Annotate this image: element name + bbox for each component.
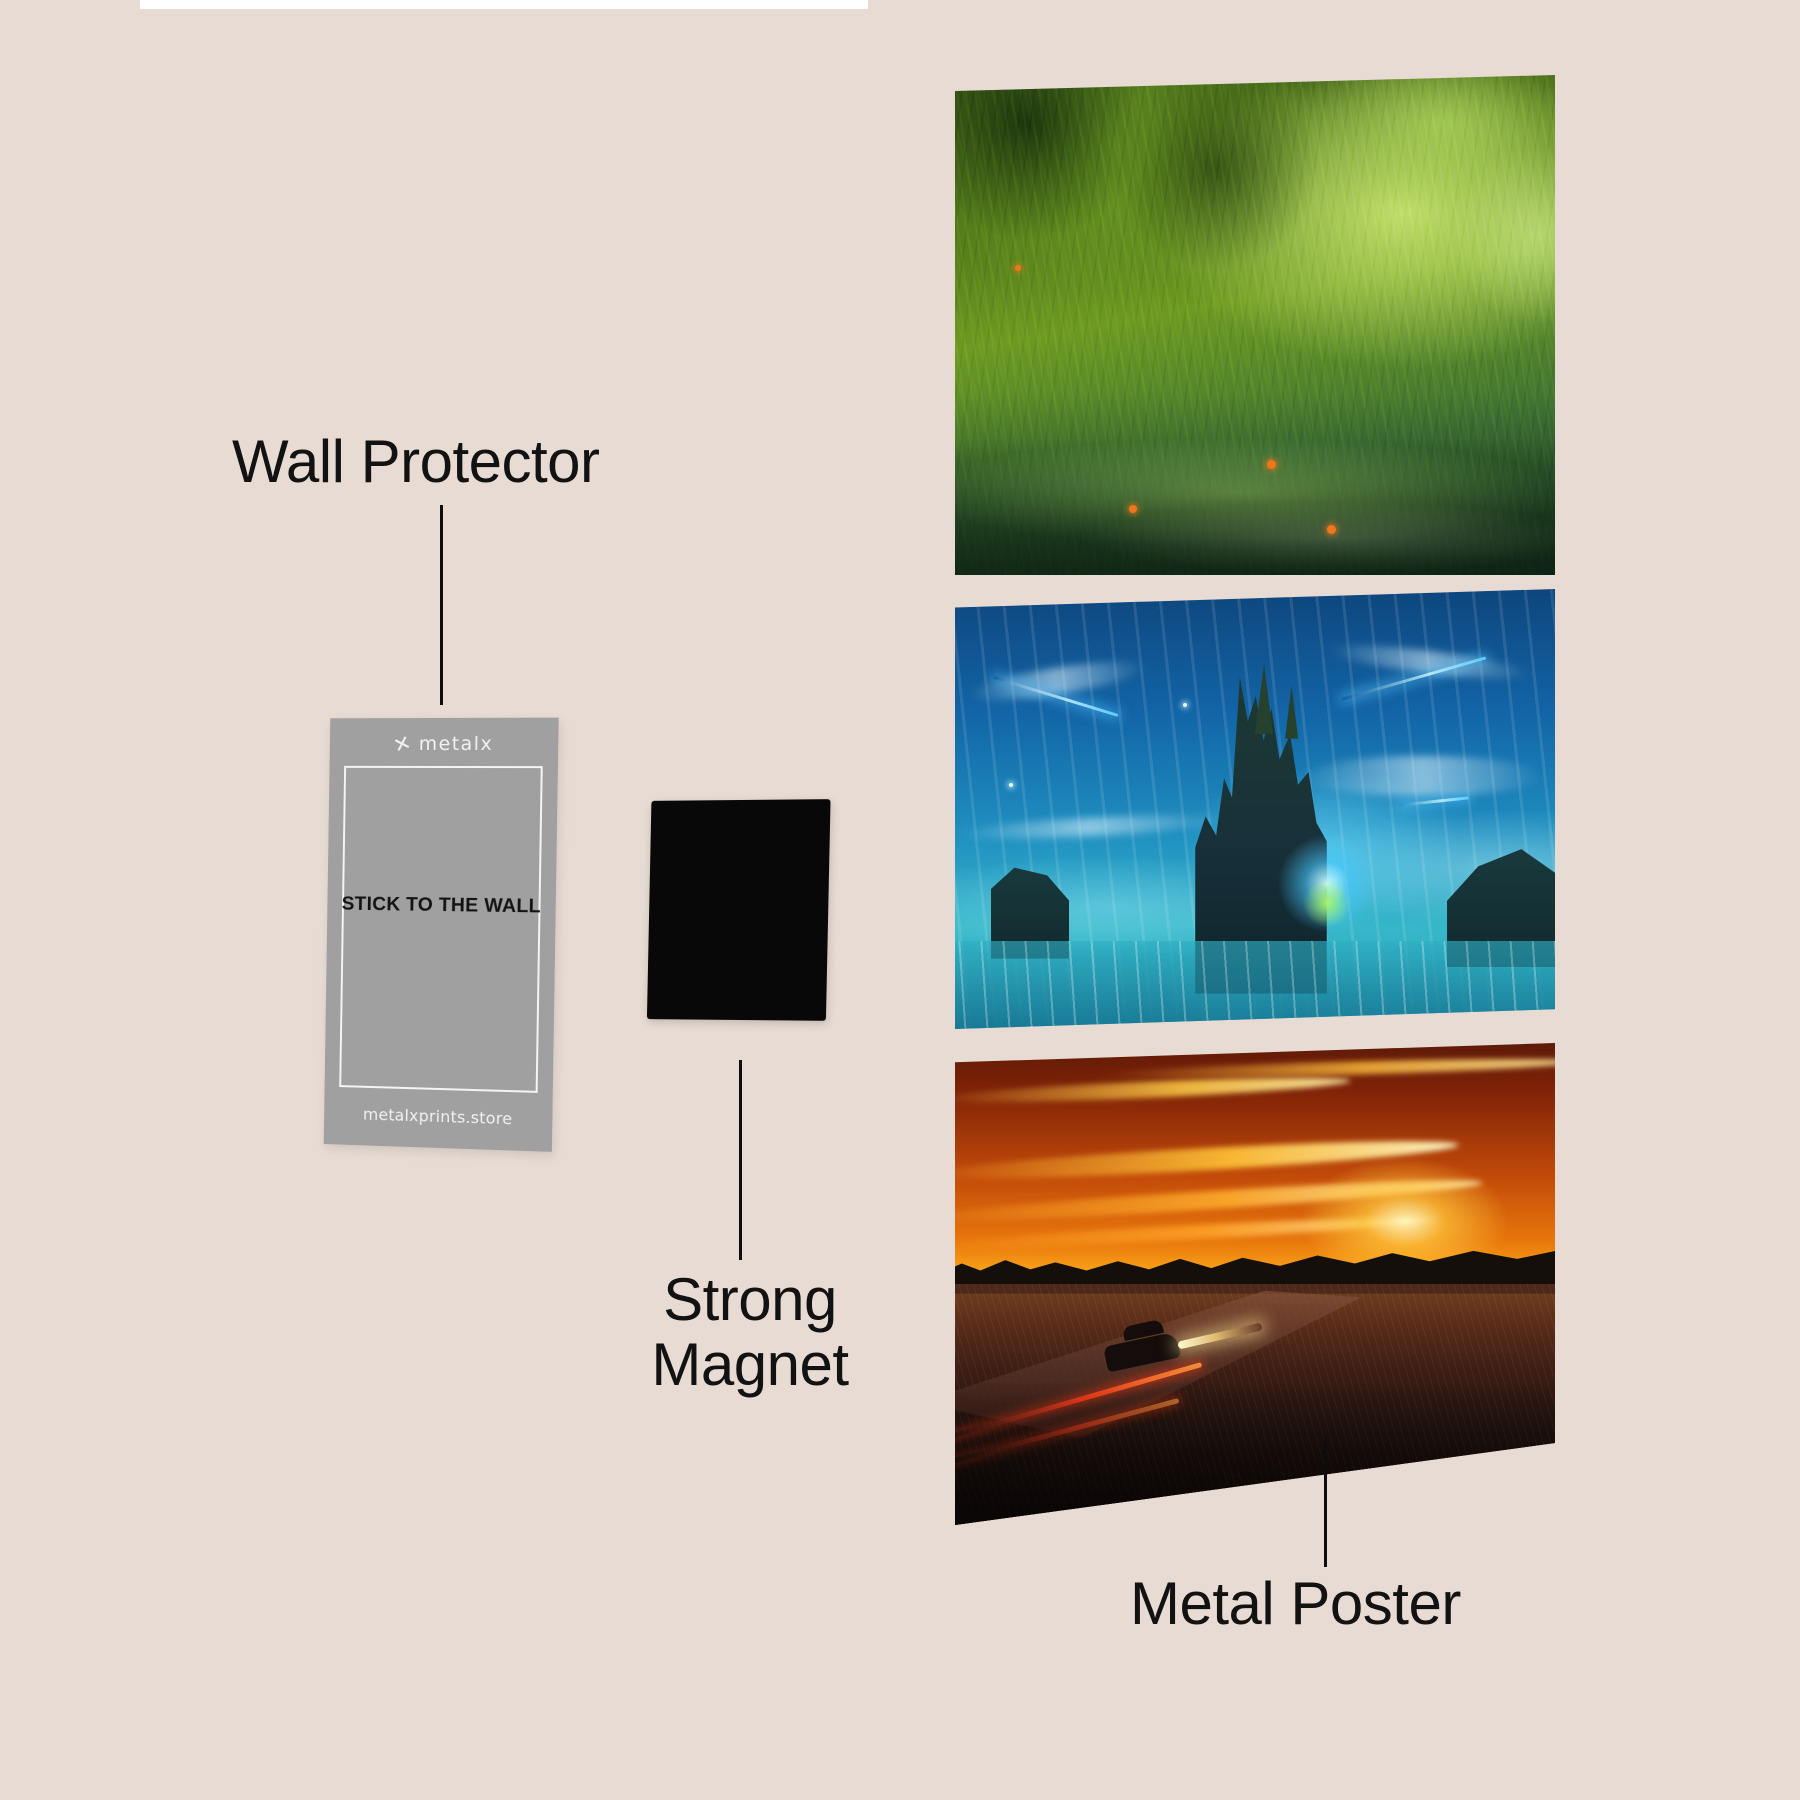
cloud-wisp xyxy=(1303,756,1543,796)
callout-label-wall-protector: Wall Protector xyxy=(232,430,600,495)
green-ember-dot xyxy=(1327,525,1336,534)
white-banner-strip xyxy=(140,0,868,9)
sunset-vignette xyxy=(955,1380,1555,1525)
card-inner-frame xyxy=(339,766,543,1093)
callout-label-strong-magnet: Strong Magnet xyxy=(620,1268,880,1398)
callout-label-metal-poster: Metal Poster xyxy=(1130,1572,1461,1637)
green-ember-dot xyxy=(1015,265,1021,271)
water-surface xyxy=(955,941,1555,1029)
stick-to-wall-text: STICK TO THE WALL xyxy=(327,893,556,919)
metal-poster-stack[interactable] xyxy=(955,75,1555,1525)
poster-panel-sunset-road[interactable] xyxy=(955,1043,1555,1525)
metalx-logo: ✕metalx xyxy=(330,732,559,756)
poster-panel-green-forest[interactable] xyxy=(955,75,1555,575)
store-url-text: metalxprints.store xyxy=(324,1103,552,1129)
metalx-wordmark: metalx xyxy=(419,733,494,755)
metalx-mark-icon: ✕ xyxy=(390,730,415,759)
product-infographic: Wall Protector ✕metalx STICK TO THE WALL… xyxy=(0,0,1800,1800)
strong-magnet-square[interactable] xyxy=(647,799,831,1021)
poster-panel-blue-citadel[interactable] xyxy=(955,589,1555,1029)
green-energy-glow xyxy=(1303,879,1351,927)
leader-line-metal-poster xyxy=(1324,1437,1327,1567)
wall-protector-card[interactable]: ✕metalx STICK TO THE WALL metalxprints.s… xyxy=(324,718,559,1152)
green-ember-dot xyxy=(1129,505,1137,513)
star-dot xyxy=(1009,783,1013,787)
green-vignette xyxy=(955,75,1555,575)
leader-line-wall-protector xyxy=(440,505,443,705)
leader-line-strong-magnet xyxy=(739,1060,742,1260)
green-ember-dot xyxy=(1267,460,1276,469)
